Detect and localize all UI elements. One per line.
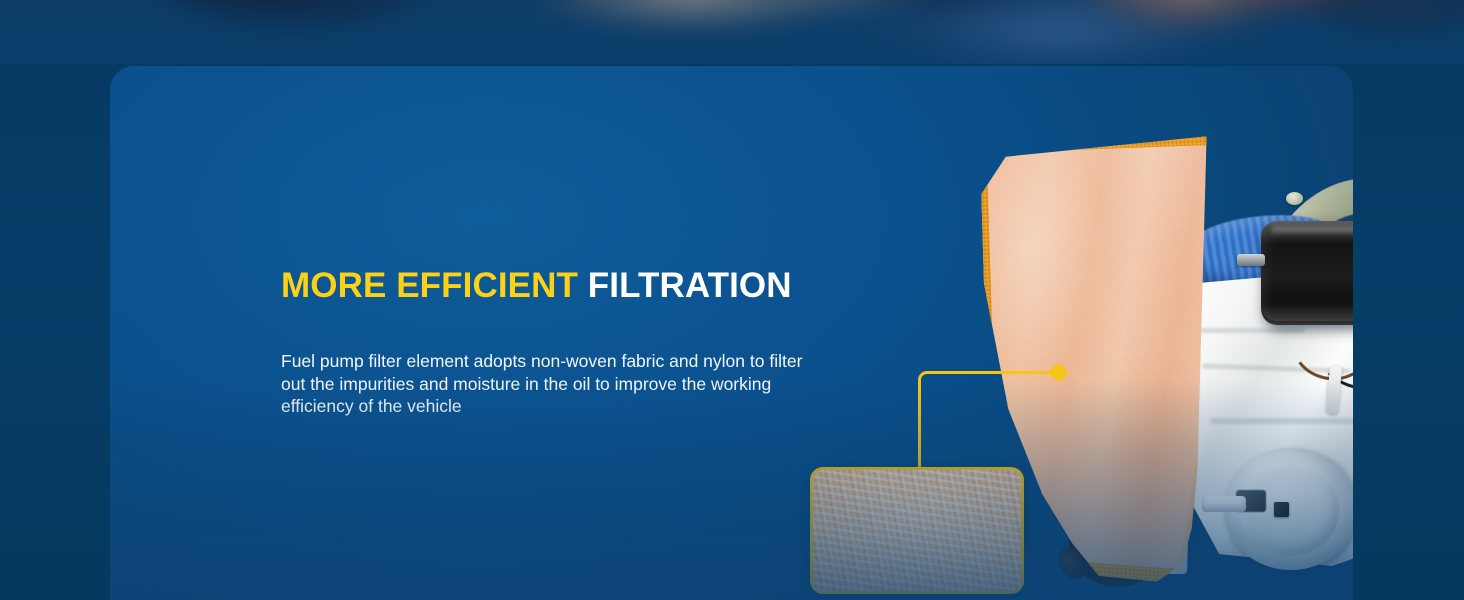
filter-edge-band [996, 556, 1203, 588]
housing-ridge [1210, 418, 1353, 424]
white-plastic-pump-housing [1180, 266, 1353, 566]
top-strip-overlay [0, 0, 1464, 72]
housing-ridge [1288, 297, 1353, 305]
magnified-weave-detail [810, 467, 1024, 594]
brown-wire [1286, 307, 1353, 388]
flange-inner-cavity [1266, 205, 1353, 502]
blurred-mechanic-photo [0, 0, 1464, 72]
callout-line-horizontal [928, 371, 1056, 374]
housing-ridge [1202, 363, 1350, 373]
pump-cylinder-notch [1236, 490, 1266, 512]
headline-plain: FILTRATION [578, 266, 792, 305]
headline-highlight: MORE EFFICIENT [281, 266, 578, 305]
banner-stage: MORE EFFICIENT FILTRATION Fuel pump filt… [0, 0, 1464, 600]
pump-sensor-chip [1274, 502, 1289, 517]
black-pump-motor-canister [1261, 221, 1353, 325]
fuel-pump-assembly [110, 66, 1353, 600]
black-wire [1343, 459, 1353, 526]
black-wire [1314, 313, 1353, 395]
blue-corrugated-hose [1174, 206, 1352, 298]
body-copy: Fuel pump filter element adopts non-wove… [281, 350, 811, 418]
metal-mounting-flange [1236, 170, 1353, 535]
pump-cylinder-arm [1202, 496, 1246, 512]
weave-shading [813, 470, 1021, 591]
translucent-plastic-channel [1129, 348, 1193, 574]
filter-edge-band [982, 129, 1206, 153]
pump-cylinder [1224, 448, 1353, 570]
flange-hole [1286, 192, 1303, 205]
pump-cylinder-face [1240, 462, 1340, 556]
feature-card: MORE EFFICIENT FILTRATION Fuel pump filt… [110, 66, 1353, 600]
housing-ridge [1195, 328, 1305, 333]
wire-connector [1326, 366, 1342, 415]
page-title: MORE EFFICIENT FILTRATION [281, 264, 792, 308]
callout-line-vertical [918, 388, 921, 470]
black-rubber-hose [1052, 471, 1189, 600]
brown-wire [1328, 465, 1353, 539]
black-rubber-hose-tip [1053, 542, 1090, 583]
motor-terminal-stud [1237, 254, 1265, 266]
elbow-connector-icon [918, 371, 940, 393]
